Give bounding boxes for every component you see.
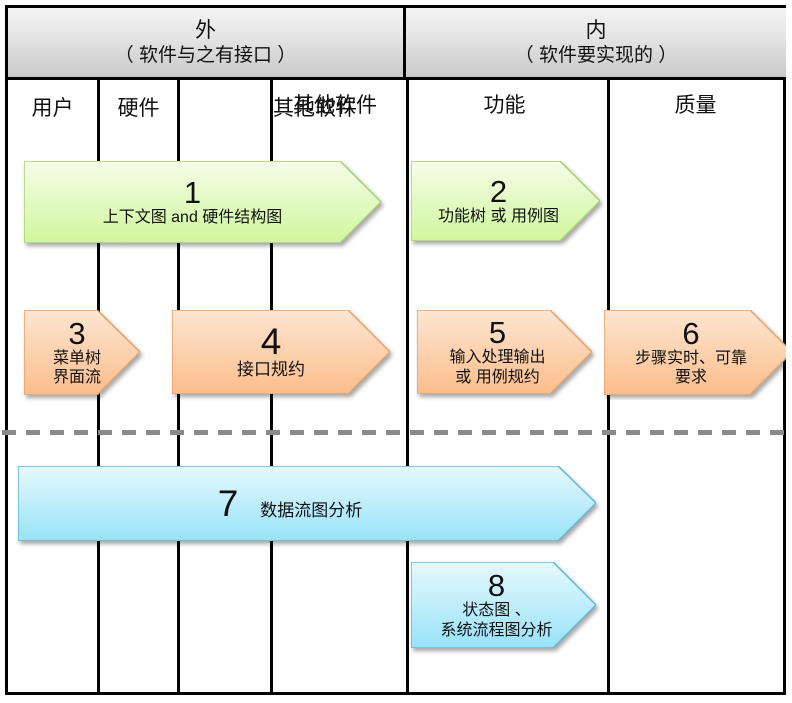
column-divider-4 — [406, 80, 409, 692]
arrow-7-label: 数据流图分析 — [260, 496, 362, 521]
arrow-6-step-realtime-reliability-requirements[interactable]: 6 步骤实时、可靠 要求 — [604, 310, 786, 395]
arrow-1-context-and-hardware-diagram[interactable]: 1 上下文图 and 硬件结构图 — [24, 161, 381, 243]
arrow-8-label: 状态图 、 系统流程图分析 — [440, 601, 566, 639]
arrow-3-number: 3 — [68, 318, 95, 349]
header-group-external-title: 外 — [195, 18, 216, 44]
column-header-hardware: 硬件 — [100, 88, 177, 126]
arrow-2-label: 功能树 或 用例图 — [438, 207, 573, 226]
header-group-internal-subtitle: （ 软件要实现的 ） — [515, 44, 678, 67]
arrow-1-number: 1 — [184, 177, 221, 208]
arrow-6-label: 步骤实时、可靠 要求 — [635, 349, 761, 387]
header-group-internal: 内 （ 软件要实现的 ） — [406, 8, 786, 80]
arrow-7-number: 7 — [218, 483, 239, 525]
column-header-quality: 质量 — [605, 85, 786, 123]
arrow-8-state-diagram-system-flowchart-analysis[interactable]: 8 状态图 、 系统流程图分析 — [411, 562, 596, 648]
diagram-canvas: 外 （ 软件与之有接口 ） 内 （ 软件要实现的 ） 用户 硬件 其他软件 其他… — [0, 0, 792, 703]
column-header-function: 功能 — [404, 85, 605, 123]
arrow-2-number: 2 — [490, 176, 521, 207]
arrow-4-number: 4 — [261, 323, 302, 360]
header-group-external: 外 （ 软件与之有接口 ） — [8, 8, 406, 80]
arrow-4-label: 接口规约 — [237, 360, 325, 380]
arrow-3-label: 菜单树 界面流 — [53, 349, 111, 387]
arrow-7-data-flow-diagram-analysis[interactable]: 7 数据流图分析 — [18, 466, 596, 541]
arrow-2-function-tree-or-usecase-diagram[interactable]: 2 功能树 或 用例图 — [411, 161, 600, 241]
arrow-6-clip: 6 步骤实时、可靠 要求 — [604, 305, 786, 400]
arrow-5-number: 5 — [489, 317, 520, 348]
arrow-5-label: 输入处理输出 或 用例规约 — [449, 348, 559, 386]
arrow-4-interface-specification[interactable]: 4 接口规约 — [172, 310, 390, 394]
arrow-7-content: 7 数据流图分析 — [218, 483, 397, 525]
column-header-user: 用户 — [8, 88, 97, 126]
arrow-5-input-process-output-or-usecase-spec[interactable]: 5 输入处理输出 或 用例规约 — [417, 310, 592, 394]
arrow-1-label: 上下文图 and 硬件结构图 — [103, 208, 303, 227]
arrow-8-number: 8 — [488, 570, 519, 601]
arrow-6-number: 6 — [682, 318, 713, 349]
static-dynamic-divider — [2, 430, 786, 435]
header-group-external-subtitle: （ 软件与之有接口 ） — [115, 44, 297, 67]
arrow-3-menu-tree-ui-flow[interactable]: 3 菜单树 界面流 — [24, 310, 140, 395]
column-header-other-software-label: 其他软件 — [267, 85, 403, 123]
header-group-internal-title: 内 — [586, 18, 607, 44]
